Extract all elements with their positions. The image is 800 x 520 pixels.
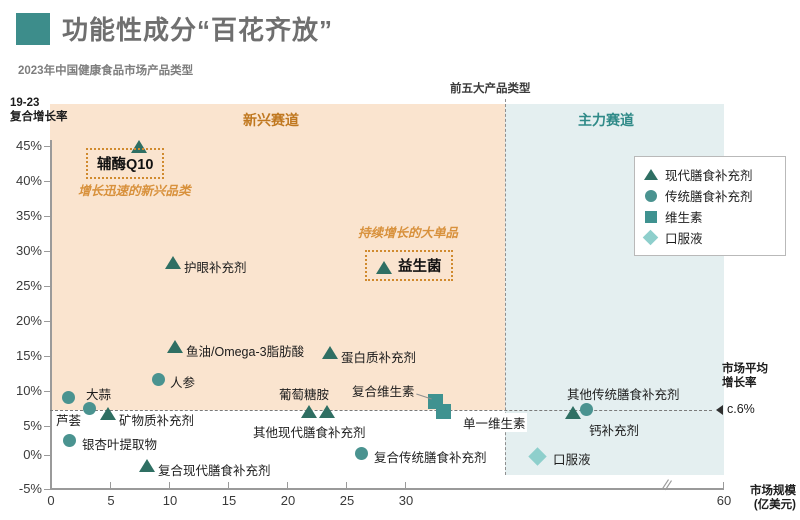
- legend-item-modern[interactable]: 现代膳食补充剂: [644, 164, 773, 185]
- x-axis-title: 市场规模 (亿美元): [750, 484, 796, 513]
- x-axis-title-line1: 市场规模: [750, 484, 796, 498]
- point-label-other-modern-supplement: 其他现代膳食补充剂: [253, 422, 366, 441]
- legend-item-oral-liquid[interactable]: 口服液: [644, 227, 773, 248]
- marker-ginkgo[interactable]: [63, 434, 76, 447]
- y-tick-label: 40%: [0, 173, 42, 188]
- point-label-oral-liquid: 口服液: [553, 449, 591, 468]
- marker-compound-traditional-supplement[interactable]: [355, 447, 368, 460]
- plot-area: 新兴赛道 主力赛道 前五大产品类型 45% 40% 35% 30% 25% 20…: [0, 0, 800, 520]
- x-tick-label: 25: [327, 493, 367, 508]
- avg-growth-label-line2: 增长率: [722, 376, 768, 390]
- y-tick: [44, 356, 51, 357]
- x-tick: [50, 482, 51, 489]
- x-tick-label: 5: [91, 493, 131, 508]
- point-label-eye-supplement: 护眼补充剂: [184, 257, 247, 276]
- y-axis-title-line2: 复合增长率: [10, 110, 68, 124]
- axis-break-icon: //: [661, 476, 672, 494]
- y-tick-label: 35%: [0, 208, 42, 223]
- region-emerging-label: 新兴赛道: [243, 110, 299, 130]
- marker-other-traditional-supplement[interactable]: [580, 403, 593, 416]
- legend: 现代膳食补充剂 传统膳食补充剂 维生素 口服液: [634, 156, 786, 256]
- y-tick-label: 0%: [0, 447, 42, 462]
- y-axis-title: 19-23 复合增长率: [10, 96, 68, 125]
- y-tick: [44, 181, 51, 182]
- x-tick: [110, 482, 111, 489]
- callout-probiotics-marker-icon: [376, 261, 392, 274]
- circle-icon: [644, 190, 657, 202]
- point-label-multivitamin: 复合维生素: [352, 381, 415, 400]
- callout-probiotics-note: 持续增长的大单品: [358, 222, 458, 241]
- point-label-calcium-supplement: 钙补充剂: [589, 420, 639, 439]
- point-label-compound-traditional-supplement: 复合传统膳食补充剂: [374, 447, 487, 466]
- legend-item-oral-liquid-label: 口服液: [665, 228, 703, 247]
- y-tick: [44, 286, 51, 287]
- x-tick-label: 60: [704, 493, 744, 508]
- legend-item-vitamin[interactable]: 维生素: [644, 206, 773, 227]
- callout-coq10-label: 辅酶Q10: [97, 153, 153, 174]
- x-axis-line: [50, 488, 724, 490]
- avg-growth-label-line1: 市场平均: [722, 362, 768, 376]
- marker-aloe[interactable]: [83, 402, 96, 415]
- x-tick: [723, 482, 724, 489]
- region-core-label: 主力赛道: [578, 110, 634, 130]
- marker-calcium-supplement[interactable]: [565, 406, 581, 419]
- y-tick-label: 45%: [0, 138, 42, 153]
- point-label-glucosamine: 葡萄糖胺: [279, 384, 329, 403]
- avg-growth-label: 市场平均 增长率: [722, 362, 768, 391]
- avg-growth-value: c.6%: [727, 402, 755, 416]
- point-label-ginseng: 人参: [170, 372, 195, 391]
- avg-growth-arrow-icon: [716, 405, 723, 415]
- y-tick: [44, 391, 51, 392]
- marker-eye-supplement[interactable]: [165, 256, 181, 269]
- marker-compound-modern-supplement[interactable]: [139, 459, 155, 472]
- square-icon: [644, 211, 657, 223]
- callout-coq10[interactable]: 辅酶Q10: [86, 148, 164, 179]
- callout-probiotics[interactable]: 益生菌: [365, 250, 453, 281]
- y-tick: [44, 426, 51, 427]
- x-tick: [405, 482, 406, 489]
- point-label-mineral-supplement: 矿物质补充剂: [119, 410, 194, 429]
- point-label-fish-oil: 鱼油/Omega-3脂肪酸: [186, 341, 304, 360]
- marker-protein-supplement[interactable]: [322, 346, 338, 359]
- point-label-aloe: 芦荟: [56, 410, 81, 429]
- y-tick: [44, 146, 51, 147]
- y-tick-label: 25%: [0, 278, 42, 293]
- x-axis-title-line2: (亿美元): [750, 498, 796, 512]
- marker-ginseng[interactable]: [152, 373, 165, 386]
- point-label-other-traditional-supplement: 其他传统膳食补充剂: [567, 384, 680, 403]
- y-tick: [44, 321, 51, 322]
- x-tick: [346, 482, 347, 489]
- y-tick-label: 20%: [0, 313, 42, 328]
- marker-other-modern-supplement[interactable]: [319, 405, 335, 418]
- x-tick: [169, 482, 170, 489]
- x-tick-label: 10: [150, 493, 190, 508]
- legend-item-traditional[interactable]: 传统膳食补充剂: [644, 185, 773, 206]
- point-label-protein-supplement: 蛋白质补充剂: [341, 347, 416, 366]
- y-tick-label: 5%: [0, 418, 42, 433]
- x-tick: [287, 482, 288, 489]
- y-tick-label: 15%: [0, 348, 42, 363]
- point-label-single-vitamin: 单一维生素: [462, 413, 527, 432]
- callout-probiotics-label: 益生菌: [398, 255, 442, 276]
- top-five-label: 前五大产品类型: [450, 80, 531, 96]
- callout-coq10-note: 增长迅速的新兴品类: [78, 180, 191, 199]
- marker-garlic[interactable]: [62, 391, 75, 404]
- y-tick: [44, 216, 51, 217]
- legend-item-vitamin-label: 维生素: [665, 207, 703, 226]
- x-tick: [228, 482, 229, 489]
- x-tick-label: 0: [31, 493, 71, 508]
- marker-mineral-supplement[interactable]: [100, 407, 116, 420]
- x-tick-label: 30: [386, 493, 426, 508]
- y-tick-label: 30%: [0, 243, 42, 258]
- point-label-compound-modern-supplement: 复合现代膳食补充剂: [158, 460, 271, 479]
- chart-root: 功能性成分“百花齐放” 2023年中国健康食品市场产品类型 新兴赛道 主力赛道 …: [0, 0, 800, 520]
- point-label-ginkgo: 银杏叶提取物: [82, 434, 157, 453]
- marker-glucosamine[interactable]: [301, 405, 317, 418]
- marker-fish-oil[interactable]: [167, 340, 183, 353]
- y-tick: [44, 455, 51, 456]
- legend-item-traditional-label: 传统膳食补充剂: [665, 186, 753, 205]
- y-axis-line: [50, 140, 52, 490]
- y-tick: [44, 251, 51, 252]
- y-axis-title-line1: 19-23: [10, 96, 68, 110]
- x-tick-label: 20: [268, 493, 308, 508]
- legend-item-modern-label: 现代膳食补充剂: [665, 165, 753, 184]
- marker-single-vitamin[interactable]: [436, 404, 451, 419]
- point-label-garlic: 大蒜: [86, 384, 111, 403]
- triangle-icon: [644, 169, 657, 180]
- diamond-icon: [644, 232, 657, 243]
- x-tick-label: 15: [209, 493, 249, 508]
- y-tick: [44, 489, 51, 490]
- y-tick-label: 10%: [0, 383, 42, 398]
